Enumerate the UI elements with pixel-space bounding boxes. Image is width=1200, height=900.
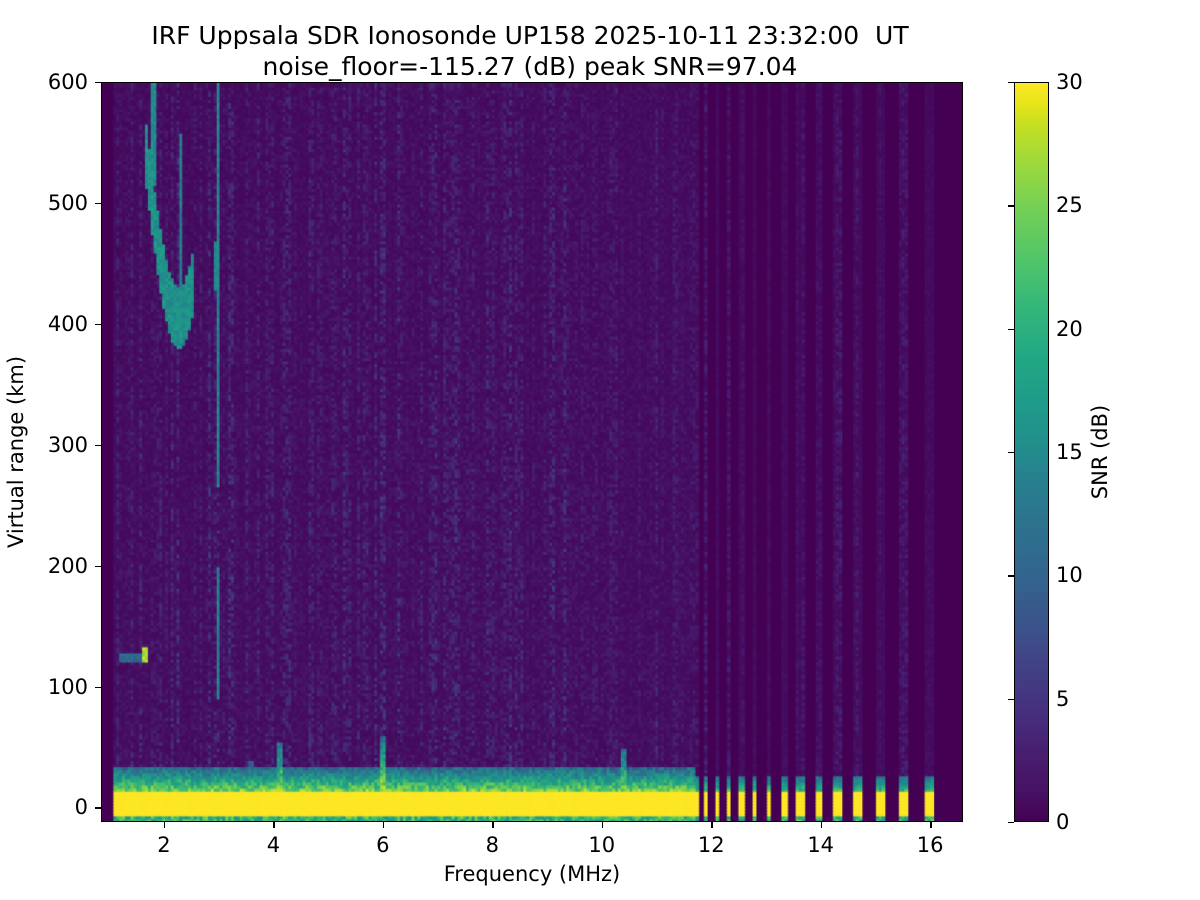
x-tick-mark (711, 822, 712, 828)
y-tick-mark (95, 566, 101, 567)
y-tick-mark (95, 82, 101, 83)
y-tick-label: 0 (75, 795, 88, 819)
y-tick-label: 500 (48, 191, 88, 215)
ionogram-axes[interactable] (101, 82, 963, 822)
colorbar-label: SNR (dB) (1088, 405, 1112, 499)
figure-title: IRF Uppsala SDR Ionosonde UP158 2025-10-… (0, 20, 1060, 83)
ionogram-heatmap (102, 83, 962, 821)
colorbar-tick-label: 20 (1056, 317, 1083, 341)
x-tick-mark (821, 822, 822, 828)
colorbar-tick-label: 0 (1056, 810, 1069, 834)
x-tick-mark (383, 822, 384, 828)
x-tick-label: 2 (157, 833, 170, 857)
y-tick-label: 200 (48, 554, 88, 578)
colorbar-tick-label: 10 (1056, 563, 1083, 587)
x-tick-label: 16 (917, 833, 944, 857)
y-tick-mark (95, 203, 101, 204)
x-axis-label: Frequency (MHz) (444, 862, 620, 886)
x-tick-mark (164, 822, 165, 828)
colorbar-tick-label: 25 (1056, 193, 1083, 217)
y-axis-label: Virtual range (km) (4, 356, 28, 548)
x-tick-label: 8 (486, 833, 499, 857)
x-tick-mark (930, 822, 931, 828)
y-tick-label: 300 (48, 433, 88, 457)
colorbar-tick-label: 15 (1056, 440, 1083, 464)
title-line-2: noise_floor=-115.27 (dB) peak SNR=97.04 (0, 51, 1060, 82)
ionogram-figure: IRF Uppsala SDR Ionosonde UP158 2025-10-… (0, 0, 1200, 900)
x-tick-label: 6 (376, 833, 389, 857)
x-tick-mark (492, 822, 493, 828)
x-tick-label: 10 (588, 833, 615, 857)
colorbar-tick-label: 5 (1056, 687, 1069, 711)
y-tick-label: 400 (48, 312, 88, 336)
x-tick-label: 14 (807, 833, 834, 857)
y-tick-mark (95, 687, 101, 688)
y-tick-mark (95, 445, 101, 446)
colorbar-tick-mark (1008, 822, 1014, 823)
x-tick-mark (273, 822, 274, 828)
colorbar-tick-label: 30 (1056, 70, 1083, 94)
x-tick-label: 12 (698, 833, 725, 857)
y-tick-mark (95, 324, 101, 325)
title-line-1: IRF Uppsala SDR Ionosonde UP158 2025-10-… (0, 20, 1060, 51)
y-tick-label: 600 (48, 70, 88, 94)
colorbar[interactable] (1014, 82, 1049, 822)
y-tick-mark (95, 807, 101, 808)
x-tick-label: 4 (267, 833, 280, 857)
y-tick-label: 100 (48, 675, 88, 699)
x-tick-mark (602, 822, 603, 828)
